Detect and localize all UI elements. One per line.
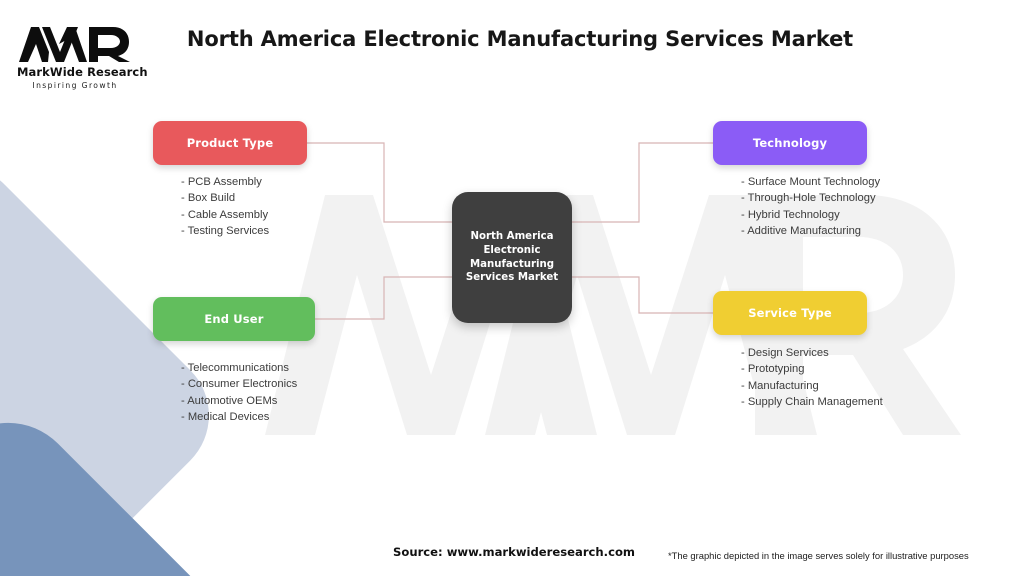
connector-product-type <box>307 143 452 222</box>
list-item: - Medical Devices <box>181 409 297 425</box>
markwide-research-logo-icon <box>17 24 133 64</box>
disclaimer-note: *The graphic depicted in the image serve… <box>668 550 969 561</box>
branch-node-service-type[interactable]: Service Type <box>713 291 867 335</box>
logo-company-name: MarkWide Research <box>17 65 133 79</box>
center-node-line-2: Electronic <box>466 244 558 258</box>
list-item: - Consumer Electronics <box>181 376 297 392</box>
list-item: - Additive Manufacturing <box>741 223 880 239</box>
list-item: - Automotive OEMs <box>181 393 297 409</box>
source-note: Source: www.markwideresearch.com <box>393 545 635 559</box>
infographic-canvas: MarkWide Research Inspiring Growth North… <box>0 0 1024 576</box>
item-list-end-user: - Telecommunications - Consumer Electron… <box>181 360 297 425</box>
list-item: - Manufacturing <box>741 378 883 394</box>
center-node-line-1: North America <box>466 230 558 244</box>
list-item: - PCB Assembly <box>181 174 269 190</box>
center-node-line-4: Services Market <box>466 271 558 285</box>
list-item: - Box Build <box>181 190 269 206</box>
list-item: - Telecommunications <box>181 360 297 376</box>
branch-label-end-user: End User <box>204 312 263 326</box>
page-title: North America Electronic Manufacturing S… <box>150 27 890 51</box>
list-item: - Through-Hole Technology <box>741 190 880 206</box>
center-node-label: North America Electronic Manufacturing S… <box>466 230 558 284</box>
connector-service-type <box>572 277 713 313</box>
item-list-product-type: - PCB Assembly - Box Build - Cable Assem… <box>181 174 269 239</box>
list-item: - Testing Services <box>181 223 269 239</box>
connector-end-user <box>315 277 452 319</box>
branch-label-service-type: Service Type <box>748 306 832 320</box>
center-node-line-3: Manufacturing <box>466 258 558 272</box>
center-node[interactable]: North America Electronic Manufacturing S… <box>452 192 572 323</box>
branch-label-product-type: Product Type <box>187 136 274 150</box>
list-item: - Surface Mount Technology <box>741 174 880 190</box>
list-item: - Supply Chain Management <box>741 394 883 410</box>
logo-tagline: Inspiring Growth <box>17 81 133 90</box>
branch-label-technology: Technology <box>753 136 827 150</box>
branch-node-technology[interactable]: Technology <box>713 121 867 165</box>
item-list-technology: - Surface Mount Technology - Through-Hol… <box>741 174 880 239</box>
list-item: - Cable Assembly <box>181 207 269 223</box>
branch-node-end-user[interactable]: End User <box>153 297 315 341</box>
list-item: - Hybrid Technology <box>741 207 880 223</box>
connector-technology <box>572 143 713 222</box>
brand-logo: MarkWide Research Inspiring Growth <box>17 24 133 90</box>
branch-node-product-type[interactable]: Product Type <box>153 121 307 165</box>
item-list-service-type: - Design Services - Prototyping - Manufa… <box>741 345 883 410</box>
list-item: - Prototyping <box>741 361 883 377</box>
list-item: - Design Services <box>741 345 883 361</box>
